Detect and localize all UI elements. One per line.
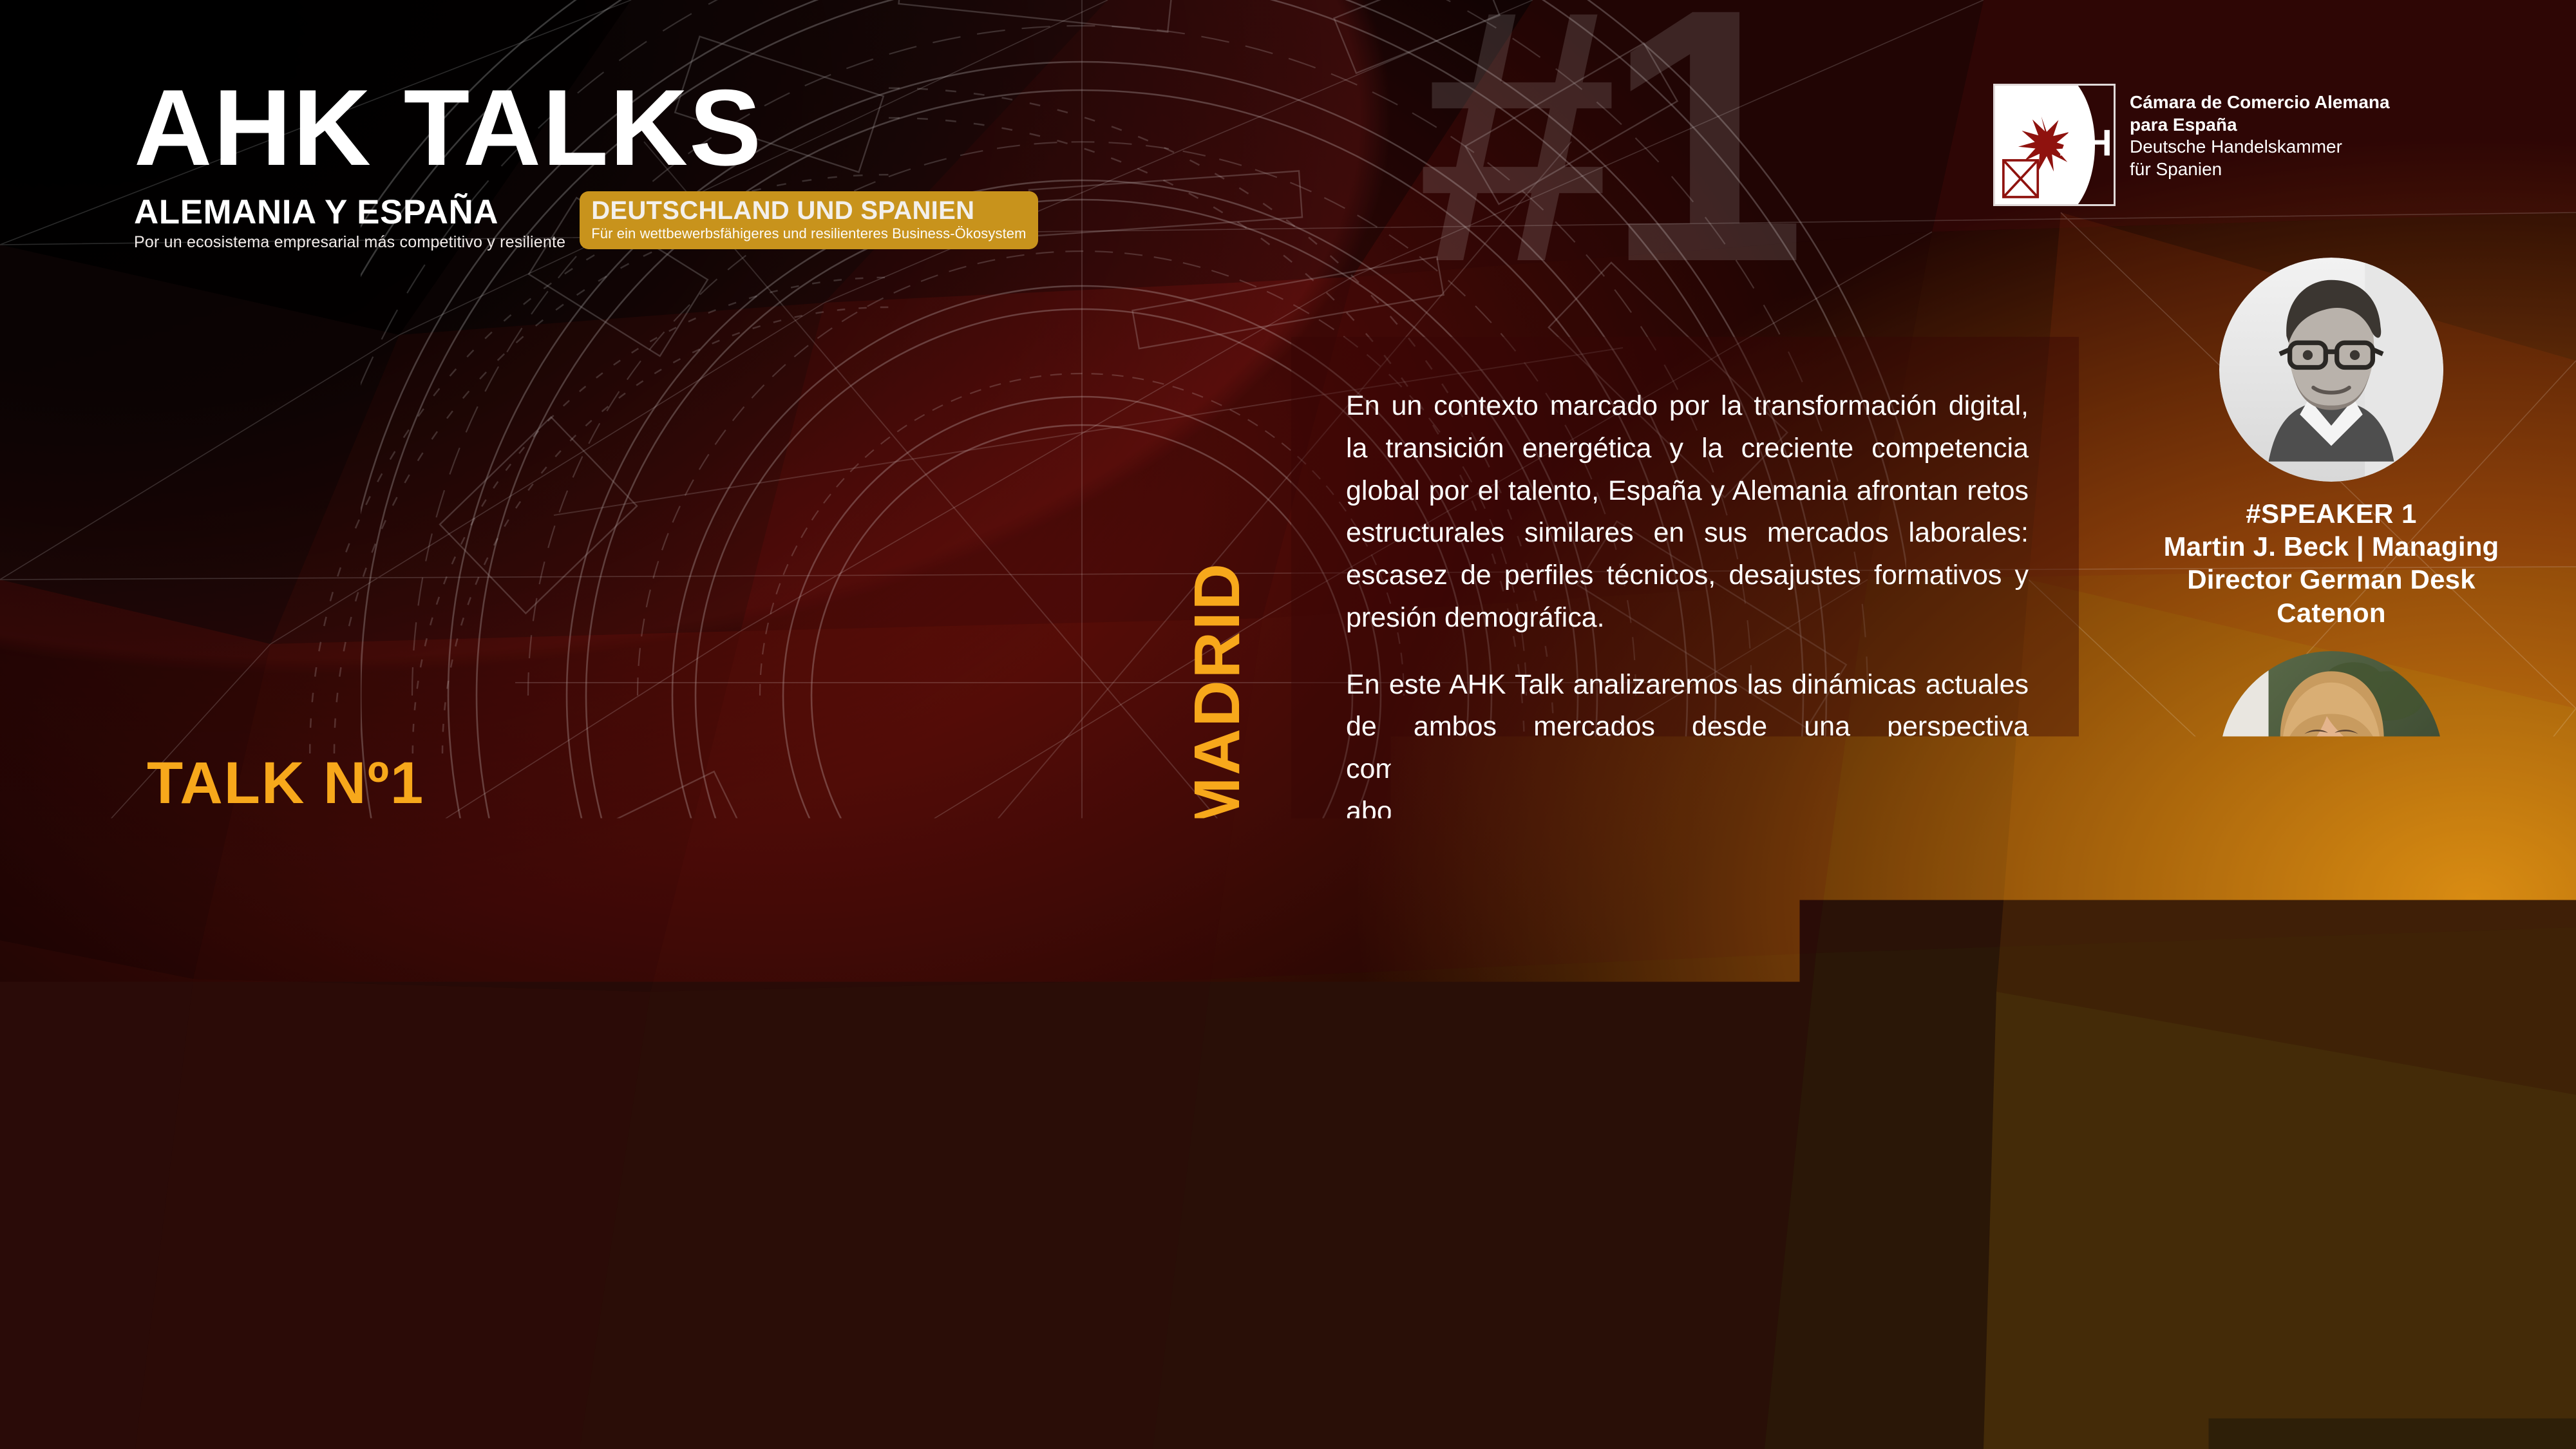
speaker-1-name-line-1: Martin J. Beck | Managing bbox=[2087, 530, 2576, 563]
brand-subtitle-de: DEUTSCHLAND UND SPANIEN bbox=[591, 197, 1026, 224]
talk-datetime: 23/03/2026 | 19:00-21:00 H bbox=[147, 827, 1151, 864]
ahk-name-line-1: Cámara de Comercio Alemana bbox=[2130, 91, 2390, 114]
ahk-chamber-name: Cámara de Comercio Alemana para España D… bbox=[2130, 84, 2390, 181]
ahk-name-line-3: Deutsche Handelskammer bbox=[2130, 136, 2390, 158]
speaker-1-info: #SPEAKER 1 Martin J. Beck | Managing Dir… bbox=[2087, 497, 2576, 629]
agenda-line-2: Debate bbox=[2087, 1096, 2576, 1132]
talk-title: TALENTO, FORMACIÓN Y EMPLEO bbox=[147, 902, 1151, 1159]
speaker-1-name-line-2: Director German Desk bbox=[2087, 563, 2576, 596]
speakers-column: #SPEAKER 1 Martin J. Beck | Managing Dir… bbox=[2087, 258, 2576, 1167]
description-paragraph-1: En un contexto marcado por la transforma… bbox=[1346, 385, 2029, 639]
speaker-1-avatar bbox=[2219, 258, 2443, 482]
location-label: MADRID bbox=[1182, 419, 1253, 831]
talk-title-line-1: TALENTO, bbox=[147, 902, 1151, 987]
speaker-2-name-line-3: Partners bbox=[2087, 990, 2576, 1023]
brand-german-badge: DEUTSCHLAND UND SPANIEN Für ein wettbewe… bbox=[580, 191, 1037, 249]
brand-spanish-block: ALEMANIA Y ESPAÑA Por un ecosistema empr… bbox=[134, 193, 565, 252]
speaker-1-tag: #SPEAKER 1 bbox=[2087, 497, 2576, 530]
ahk-name-line-4: für Spanien bbox=[2130, 158, 2390, 181]
brand-subtitle-es: ALEMANIA Y ESPAÑA bbox=[134, 195, 565, 230]
brand-header: AHK TALKS ALEMANIA Y ESPAÑA Por un ecosi… bbox=[134, 76, 1038, 252]
agenda-block: Ponencias: 2 x 20’ Debate Networking bbox=[2087, 1061, 2576, 1167]
talk-title-line-3: EMPLEO bbox=[147, 1073, 1151, 1159]
ahk-logo: AHK Cámara de Comercio Alemana para Espa… bbox=[1993, 84, 2390, 206]
agenda-line-3: Networking bbox=[2087, 1132, 2576, 1167]
location-label-wrapper: MADRID bbox=[1182, 419, 1253, 831]
talk-block: TALK Nº1 23/03/2026 | 19:00-21:00 H TALE… bbox=[147, 753, 1151, 1159]
svg-text:AHK: AHK bbox=[2059, 123, 2114, 164]
speaker-2-name-line-1: Anna Pérez Managing bbox=[2087, 923, 2576, 956]
brand-tagline-de: Für ein wettbewerbsfähigeres und resilie… bbox=[591, 225, 1026, 242]
brand-tagline-es: Por un ecosistema empresarial más compet… bbox=[134, 233, 565, 252]
speaker-2-tag: #SPEAKER 2 bbox=[2087, 891, 2576, 923]
poster-canvas: #1 AHK TALKS ALEMANIA Y ESPAÑA Por un ec… bbox=[0, 0, 2576, 1449]
speaker-2-info: #SPEAKER 2 Anna Pérez Managing Partner, … bbox=[2087, 891, 2576, 1023]
ahk-starburst-icon: AHK bbox=[1993, 84, 2116, 206]
ahk-name-line-2: para España bbox=[2130, 114, 2390, 137]
speaker-1-name-line-3: Catenon bbox=[2087, 596, 2576, 629]
speaker-2-avatar bbox=[2219, 651, 2443, 875]
description-paragraph-2: En este AHK Talk analizaremos las dinámi… bbox=[1346, 664, 2029, 918]
page-title: AHK TALKS bbox=[134, 76, 1038, 180]
talk-title-line-2: FORMACIÓN Y bbox=[147, 987, 1151, 1073]
issue-number-watermark: #1 bbox=[1417, 0, 1795, 316]
description-text: En un contexto marcado por la transforma… bbox=[1346, 385, 2029, 918]
agenda-line-1: Ponencias: 2 x 20’ bbox=[2087, 1061, 2576, 1097]
talk-number: TALK Nº1 bbox=[147, 753, 1151, 813]
speaker-2-name-line-2: Partner, MUR & bbox=[2087, 956, 2576, 989]
